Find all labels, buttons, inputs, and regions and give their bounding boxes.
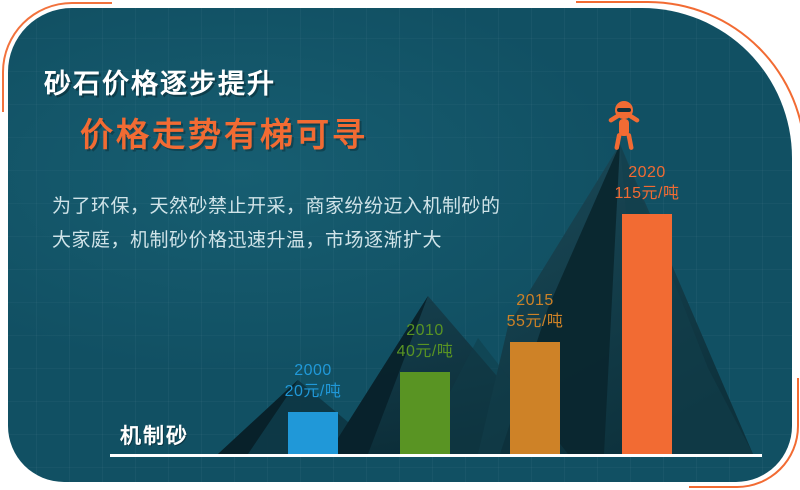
bar-2015[interactable] — [510, 342, 560, 454]
bar-year-2015: 2015 — [475, 290, 595, 311]
poster-body-text: 为了环保，天然砂禁止开采，商家纷纷迈入机制砂的大家庭，机制砂价格迅速升温，市场逐… — [52, 190, 507, 258]
bar-year-2000: 2000 — [253, 360, 373, 381]
bar-value-2010: 40元/吨 — [365, 341, 485, 362]
bar-2010[interactable] — [400, 372, 450, 454]
bar-year-2020: 2020 — [587, 162, 707, 183]
poster-heading-sub: 价格走势有梯可寻 — [80, 108, 368, 156]
poster-heading-main: 砂石价格逐步提升 — [44, 62, 276, 101]
bar-value-2015: 55元/吨 — [475, 311, 595, 332]
bar-label-2020: 2020115元/吨 — [587, 162, 707, 204]
bar-label-2010: 201040元/吨 — [365, 320, 485, 362]
chart-axis-caption: 机制砂 — [120, 420, 189, 450]
infographic-poster: 砂石价格逐步提升 价格走势有梯可寻 为了环保，天然砂禁止开采，商家纷纷迈入机制砂… — [0, 0, 800, 490]
bar-label-2000: 200020元/吨 — [253, 360, 373, 402]
bar-value-2000: 20元/吨 — [253, 381, 373, 402]
person-arms-raised-icon — [604, 100, 644, 152]
chart-axis-line — [110, 454, 762, 457]
bar-2020[interactable] — [622, 214, 672, 454]
bar-year-2010: 2010 — [365, 320, 485, 341]
bar-2000[interactable] — [288, 412, 338, 454]
bar-label-2015: 201555元/吨 — [475, 290, 595, 332]
bar-value-2020: 115元/吨 — [587, 183, 707, 204]
